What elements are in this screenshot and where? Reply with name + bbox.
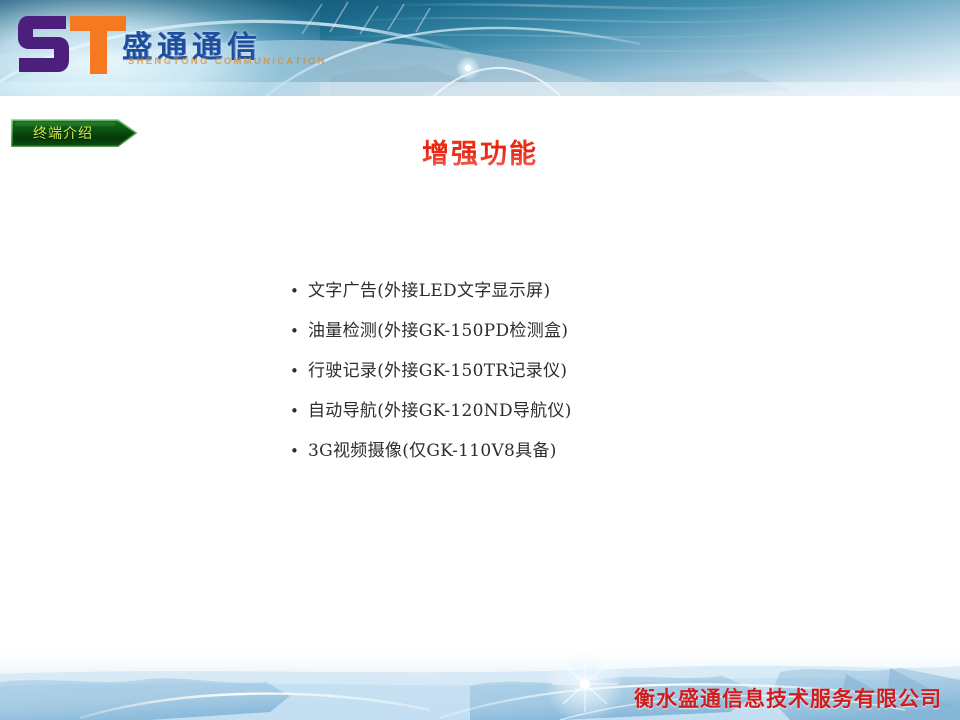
- slide-root: { "header": { "logo": { "mark_letters": …: [0, 0, 960, 720]
- bullet-marker-icon: •: [290, 324, 308, 339]
- list-item-label: 自动导航(外接GK-120ND导航仪): [308, 396, 572, 421]
- list-item-label: 油量检测(外接GK-150PD检测盒): [308, 316, 568, 341]
- list-item-label: 行驶记录(外接GK-150TR记录仪): [308, 356, 567, 381]
- list-item: • 文字广告(外接LED文字显示屏): [290, 276, 850, 316]
- logo-company-en: SHENGTONG COMMUNICATION: [128, 56, 327, 67]
- bullet-marker-icon: •: [290, 444, 308, 459]
- bullet-marker-icon: •: [290, 284, 308, 299]
- list-item-label: 3G视频摄像(仅GK-110V8具备): [308, 436, 557, 461]
- footer-company-name: 衡水盛通信息技术服务有限公司: [634, 683, 942, 713]
- logo-st-mark-icon: [14, 8, 134, 78]
- list-item: • 油量检测(外接GK-150PD检测盒): [290, 316, 850, 356]
- company-logo: 盛通通信 SHENGTONG COMMUNICATION: [14, 8, 304, 84]
- list-item: • 自动导航(外接GK-120ND导航仪): [290, 396, 850, 436]
- header-banner: 盛通通信 SHENGTONG COMMUNICATION: [0, 0, 960, 96]
- feature-bullet-list: • 文字广告(外接LED文字显示屏) • 油量检测(外接GK-150PD检测盒)…: [290, 276, 850, 476]
- bullet-marker-icon: •: [290, 404, 308, 419]
- list-item: • 行驶记录(外接GK-150TR记录仪): [290, 356, 850, 396]
- list-item: • 3G视频摄像(仅GK-110V8具备): [290, 436, 850, 476]
- list-item-label: 文字广告(外接LED文字显示屏): [308, 276, 550, 301]
- footer-banner: 衡水盛通信息技术服务有限公司: [0, 652, 960, 720]
- slide-title: 增强功能: [0, 132, 960, 171]
- bullet-marker-icon: •: [290, 364, 308, 379]
